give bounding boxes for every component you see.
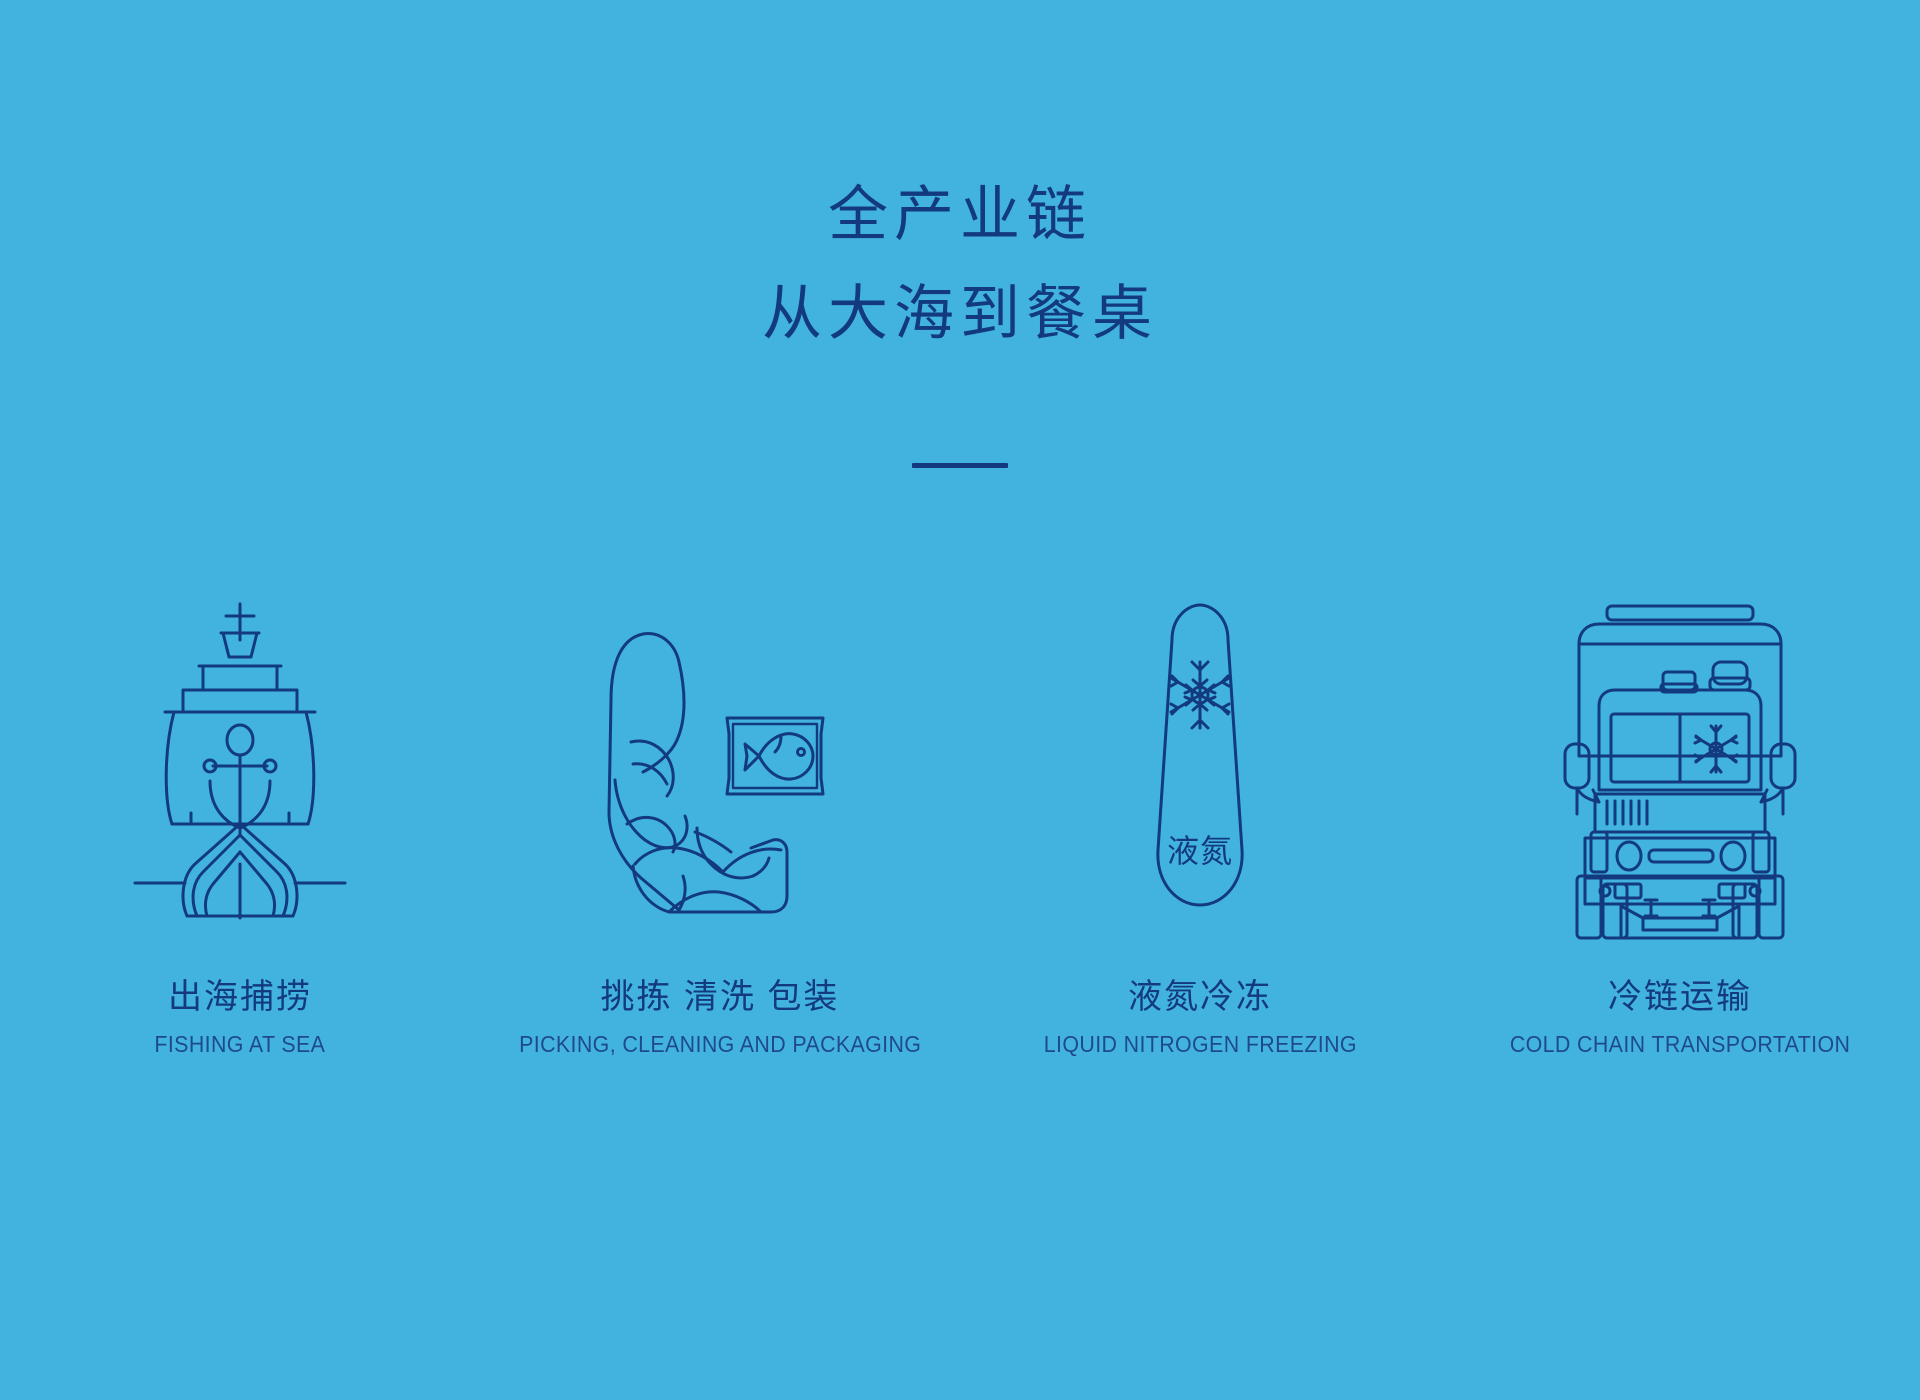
page-title-line-2: 从大海到餐桌 (0, 269, 1920, 360)
step-liquid-nitrogen-freezing[interactable]: 液氮 液氮冷冻 LIQUID NITROGEN FREEZING (960, 520, 1440, 1058)
page-title-line-1: 全产业链 (0, 170, 1920, 261)
step-label-en: FISHING AT SEA (155, 1031, 326, 1059)
refrigerated-truck-icon (1555, 520, 1805, 920)
process-steps-row: 出海捕捞 FISHING AT SEA (0, 520, 1920, 1058)
nitrogen-tank-icon: 液氮 (1120, 520, 1280, 920)
step-label-cn: 挑拣 清洗 包装 (504, 976, 936, 1019)
step-label-cn: 冷链运输 (1497, 976, 1863, 1019)
step-label-en: LIQUID NITROGEN FREEZING (1043, 1031, 1356, 1059)
fishing-boat-icon (125, 520, 355, 920)
step-fishing-at-sea[interactable]: 出海捕捞 FISHING AT SEA (0, 520, 480, 1058)
page-root: 全产业链 从大海到餐桌 (0, 0, 1920, 1400)
snowflake-icon (1695, 726, 1737, 772)
snowflake-icon (1171, 662, 1229, 728)
page-title: 全产业链 从大海到餐桌 (0, 170, 1920, 360)
step-label-cn: 出海捕捞 (148, 976, 332, 1019)
step-labels: 出海捕捞 FISHING AT SEA (148, 976, 332, 1058)
step-labels: 液氮冷冻 LIQUID NITROGEN FREEZING (1032, 976, 1369, 1058)
hands-fish-package-icon (575, 520, 865, 920)
tank-text: 液氮 (1167, 832, 1233, 870)
title-divider (912, 463, 1008, 468)
step-label-en: PICKING, CLEANING AND PACKAGING (519, 1031, 921, 1059)
step-labels: 冷链运输 COLD CHAIN TRANSPORTATION (1497, 976, 1863, 1058)
title-divider-wrap (0, 455, 1920, 473)
step-label-cn: 液氮冷冻 (1032, 976, 1369, 1019)
step-picking-cleaning-packaging[interactable]: 挑拣 清洗 包装 PICKING, CLEANING AND PACKAGING (480, 520, 960, 1058)
step-labels: 挑拣 清洗 包装 PICKING, CLEANING AND PACKAGING (504, 976, 936, 1058)
step-cold-chain-transportation[interactable]: 冷链运输 COLD CHAIN TRANSPORTATION (1440, 520, 1920, 1058)
step-label-en: COLD CHAIN TRANSPORTATION (1510, 1031, 1850, 1059)
